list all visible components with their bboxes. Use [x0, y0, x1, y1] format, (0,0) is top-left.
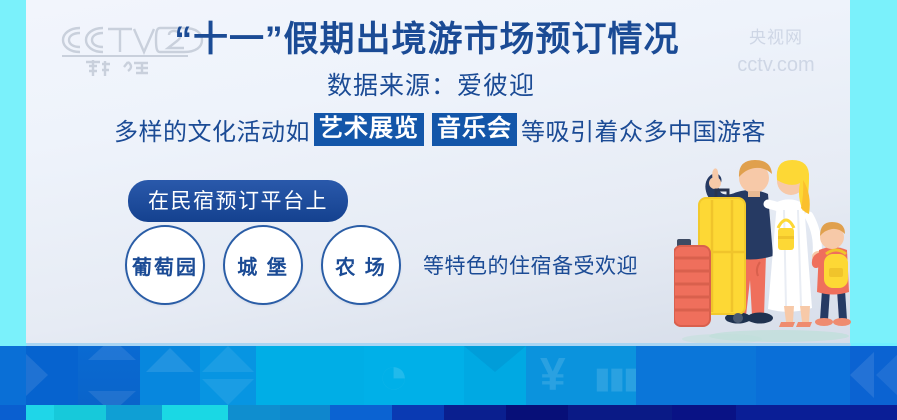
bstrip-6: [228, 405, 280, 420]
bstrip-1: [0, 405, 26, 420]
bar-seg-4: [140, 346, 200, 405]
bar-seg-5: [200, 346, 256, 405]
content-panel: 央视网 cctv.com: [26, 0, 850, 343]
circle-farm: 农 场: [321, 225, 401, 305]
bar-seg-10: [636, 346, 756, 405]
bstrip-11: [506, 405, 568, 420]
bstrip-12: [568, 405, 672, 420]
clock-glyph: ◔: [378, 350, 409, 402]
bstrip-13: [672, 405, 736, 420]
bstrip-9: [392, 405, 444, 420]
bstrip-10: [444, 405, 506, 420]
bar-seg-9: ¥ ▮▮▮: [526, 346, 636, 405]
bstrip-4: [106, 405, 162, 420]
lodging-tail-text: 等特色的住宿备受欢迎: [423, 250, 638, 280]
bar-seg-1: [0, 346, 26, 405]
bar-seg-2: [26, 346, 78, 405]
bstrip-5: [162, 405, 228, 420]
bar-seg-3: [78, 346, 140, 405]
bar-seg-12: [850, 346, 897, 405]
left-cyan-band: [0, 0, 26, 343]
culture-activity-line: 多样的文化活动如 艺术展览 音乐会 等吸引着众多中国游客: [114, 112, 766, 147]
bar-bottom-strip: [0, 405, 897, 420]
broadcast-graphic: 央视网 cctv.com: [0, 0, 897, 420]
page-title: “十一”假期出境游市场预订情况: [26, 11, 850, 62]
bstrip-14: [736, 405, 897, 420]
bstrip-3: [54, 405, 106, 420]
highlight-concert: 音乐会: [432, 113, 517, 146]
bar-seg-8: [464, 346, 526, 405]
bar-seg-11: [756, 346, 850, 405]
yen-glyph: ¥: [540, 351, 566, 397]
traveling-family-illustration: [674, 150, 870, 343]
bstrip-7: [280, 405, 330, 420]
bar-chart-glyph: ▮▮▮: [594, 364, 636, 394]
bar-seg-7: ◔: [364, 346, 464, 405]
data-source-subtitle: 数据来源：爱彼迎: [26, 66, 850, 102]
highlight-art-exhibition: 艺术展览: [314, 113, 424, 146]
circle-vineyard: 葡萄园: [125, 225, 205, 305]
bottom-decoration-bar: ◔ ¥ ▮▮▮: [0, 343, 897, 420]
bar-seg-6: [256, 346, 364, 405]
lodging-type-circles: 葡萄园 城 堡 农 场 等特色的住宿备受欢迎: [125, 225, 638, 305]
platform-pill-label: 在民宿预订平台上: [128, 180, 348, 222]
line2-suffix: 等吸引着众多中国游客: [521, 112, 766, 147]
line2-prefix: 多样的文化活动如: [114, 112, 310, 147]
bar-main-strip: ◔ ¥ ▮▮▮: [0, 346, 897, 405]
bstrip-8: [330, 405, 392, 420]
circle-castle: 城 堡: [223, 225, 303, 305]
bstrip-2: [26, 405, 54, 420]
